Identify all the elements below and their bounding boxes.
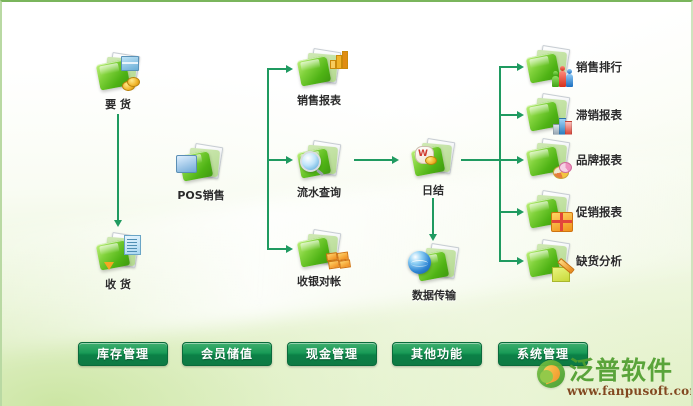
coins-badge-icon	[122, 77, 140, 91]
flow-node-label: 日结	[411, 182, 455, 198]
arrowhead-trunk-to-xsph	[517, 63, 524, 71]
connector-right-trunk	[499, 66, 501, 260]
report-node-label: 滞销报表	[576, 107, 622, 123]
report-node-label: 缺货分析	[576, 253, 622, 269]
connector-trunk-to-xsbb	[267, 68, 288, 70]
arrowhead-yaohuo-to-shouhuo	[114, 220, 122, 227]
globe-badge-icon	[408, 251, 431, 274]
flow-node-lscx[interactable]: 流水查询	[292, 142, 346, 200]
report-node-label: 品牌报表	[576, 152, 622, 168]
bar-chart-badge-icon	[330, 52, 348, 69]
connector-trunk-to-ppbb	[499, 159, 519, 161]
report-node-qhfx[interactable]: 缺货分析	[526, 241, 622, 281]
tiles-badge-icon	[326, 251, 350, 272]
flow-node-label: 要 货	[96, 96, 140, 112]
button-qita-gongneng[interactable]: 其他功能	[392, 342, 482, 366]
flow-node-label: 流水查询	[292, 184, 346, 200]
arrowhead-trunk-to-zxbb	[517, 111, 524, 119]
folder-search-icon	[292, 142, 346, 182]
document-badge-icon	[124, 235, 141, 255]
bar-chart-badge-icon	[553, 115, 573, 135]
gift-badge-icon	[551, 212, 573, 232]
report-node-xsph[interactable]: 销售排行	[526, 47, 622, 87]
folder-pie-icon	[526, 140, 570, 180]
flow-node-shouhuo[interactable]: 收 货	[96, 234, 140, 292]
folder-gift-icon	[526, 192, 570, 232]
connector-lscx-to-rijie	[354, 159, 394, 161]
report-node-zxbb[interactable]: 滞销报表	[526, 95, 622, 135]
report-node-ppbb[interactable]: 品牌报表	[526, 140, 622, 180]
company-logo: 泛普软件 www.fanpusoft.com	[533, 356, 685, 402]
connector-trunk-to-sydz	[267, 248, 288, 250]
flow-node-rijie[interactable]: W 日结	[411, 140, 455, 198]
logo-mark-icon	[537, 360, 565, 388]
flow-node-sydz[interactable]: 收银对帐	[292, 231, 346, 289]
pie-chart-badge-icon	[553, 162, 572, 179]
folder-shortage-icon	[526, 241, 570, 281]
connector-trunk-to-cxbb	[499, 211, 519, 213]
people-chart-badge-icon	[552, 66, 574, 87]
flowchart-canvas: 要 货 收 货 POS销售 销售报表 流水查询	[0, 0, 693, 406]
magnifier-badge-icon	[300, 151, 321, 172]
connector-trunk-to-qhfx	[499, 260, 519, 262]
flow-node-label: 数据传输	[407, 287, 461, 303]
folder-receive-icon	[96, 234, 140, 274]
folder-globe-icon	[407, 245, 461, 285]
box-badge-icon	[121, 56, 139, 71]
button-huiyuan-chuzhi[interactable]: 会员储值	[182, 342, 272, 366]
folder-monitor-icon	[174, 145, 228, 185]
report-node-label: 销售排行	[576, 59, 622, 75]
logo-url: www.fanpusoft.com	[567, 384, 693, 398]
connector-trunk-to-xsph	[499, 66, 519, 68]
folder-people-chart-icon	[526, 47, 570, 87]
report-node-cxbb[interactable]: 促销报表	[526, 192, 622, 232]
flow-node-label: POS销售	[174, 187, 228, 203]
connector-rijie-to-sjcs	[432, 198, 434, 236]
flow-node-yaohuo[interactable]: 要 货	[96, 54, 140, 112]
connector-trunk-to-zxbb	[499, 114, 519, 116]
connector-yaohuo-to-shouhuo	[117, 114, 119, 222]
flow-node-label: 销售报表	[292, 92, 346, 108]
arrowhead-lscx-to-rijie	[392, 156, 399, 164]
arrowhead-trunk-to-cxbb	[517, 208, 524, 216]
button-kucun-guanli[interactable]: 库存管理	[78, 342, 168, 366]
connector-trunk-to-lscx	[267, 159, 288, 161]
button-xianjin-guanli[interactable]: 现金管理	[287, 342, 377, 366]
arrowhead-trunk-to-ppbb	[517, 156, 524, 164]
arrowhead-rijie-to-sjcs	[429, 234, 437, 241]
money-bag-badge-icon: W	[415, 144, 434, 164]
flow-node-pos[interactable]: POS销售	[174, 145, 228, 203]
folder-coins-icon	[96, 54, 140, 94]
flow-node-sjcs[interactable]: 数据传输	[407, 245, 461, 303]
arrowhead-trunk-to-qhfx	[517, 257, 524, 265]
folder-report-icon	[292, 50, 346, 90]
shortage-badge-icon	[552, 263, 574, 282]
logo-name: 泛普软件	[569, 356, 673, 386]
connector-rijie-to-right-trunk	[461, 159, 500, 161]
flow-node-xsbb[interactable]: 销售报表	[292, 50, 346, 108]
flow-node-label: 收银对帐	[292, 273, 346, 289]
folder-tiles-icon	[292, 231, 346, 271]
report-node-label: 促销报表	[576, 204, 622, 220]
folder-money-icon: W	[411, 140, 455, 180]
folder-bars-icon	[526, 95, 570, 135]
flow-node-label: 收 货	[96, 276, 140, 292]
arrow-down-badge-icon	[104, 262, 114, 270]
monitor-badge-icon	[176, 155, 197, 173]
